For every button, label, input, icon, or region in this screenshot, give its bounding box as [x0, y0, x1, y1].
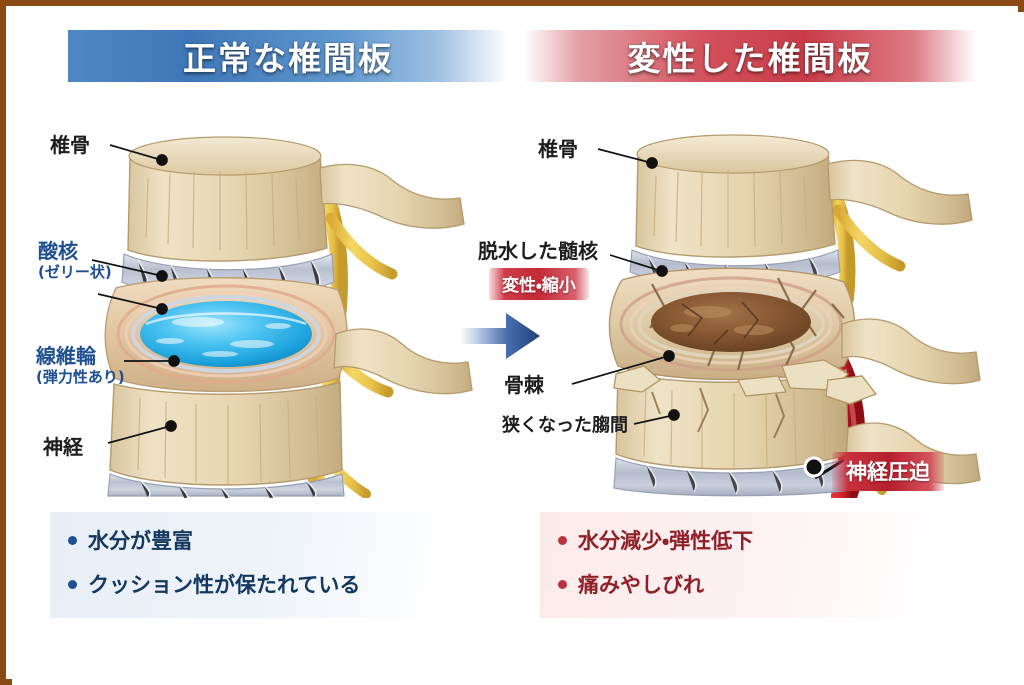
bullet-label: クッション性が保たれている [88, 569, 360, 599]
label-normal-nucleus: 酸核 (ゼリー状) [38, 240, 112, 281]
badge-degeneration: 変性・縮小 [489, 268, 589, 300]
bullet-label: 水分が豊富 [88, 525, 193, 555]
label-degenerated-dehydrated-nucleus: 脱水した髄核 [478, 240, 598, 264]
bullet-label: 水分減少・弾性低下 [578, 525, 753, 555]
label-normal-vertebra: 椎骨 [50, 134, 90, 158]
transition-arrow [458, 308, 542, 364]
illustration-degenerated-disc [532, 98, 1010, 498]
bullet-dot-icon [558, 580, 567, 589]
banner-degenerated-title: 変性した椎間板 [628, 32, 873, 80]
banner-degenerated-disc: 変性した椎間板 [524, 30, 976, 82]
banner-normal-disc: 正常な椎間板 [68, 30, 508, 82]
banner-normal-title: 正常な椎間板 [183, 32, 393, 80]
bullets-normal-disc: 水分が豊富 クッション性が保たれている [50, 512, 440, 618]
bullet-label: 痛みやしびれ [578, 569, 704, 599]
bullet-item: クッション性が保たれている [50, 562, 440, 606]
label-degenerated-narrowed-space: 狭くなった䐢間 [502, 415, 628, 436]
bullets-degenerated-disc: 水分減少・弾性低下 痛みやしびれ [540, 512, 930, 618]
spinous-process-lower-normal [334, 329, 472, 394]
label-normal-annulus: 線維輪 (弾力性あり) [36, 345, 125, 386]
nucleus-pulposus-degenerated [651, 292, 811, 352]
bullet-dot-icon [68, 580, 77, 589]
vertebra-upper-degenerated [636, 135, 835, 257]
image-frame: 正常な椎間板 変性した椎間板 [0, 0, 1024, 685]
vertebra-lower-normal [110, 382, 342, 485]
diagram-stage: 正常な椎間板 変性した椎間板 [12, 12, 1024, 685]
label-normal-nerve: 神経 [43, 436, 83, 460]
badge-nerve-compression: 神経圧迫 [832, 452, 944, 491]
spinous-process-upper-degenerated [828, 160, 972, 224]
bullet-dot-icon [558, 536, 567, 545]
illustration-normal-disc [20, 98, 490, 498]
bullet-item: 水分が豊富 [50, 518, 440, 562]
bullet-item: 水分減少・弾性低下 [540, 518, 930, 562]
label-degenerated-vertebra: 椎骨 [538, 138, 578, 162]
nucleus-pulposus-healthy [140, 301, 312, 367]
bullet-dot-icon [68, 536, 77, 545]
spinous-process-upper-normal [320, 164, 464, 228]
vertebra-upper-normal [128, 137, 327, 261]
label-degenerated-osteophyte: 骨棘 [504, 374, 544, 398]
bullet-item: 痛みやしびれ [540, 562, 930, 606]
